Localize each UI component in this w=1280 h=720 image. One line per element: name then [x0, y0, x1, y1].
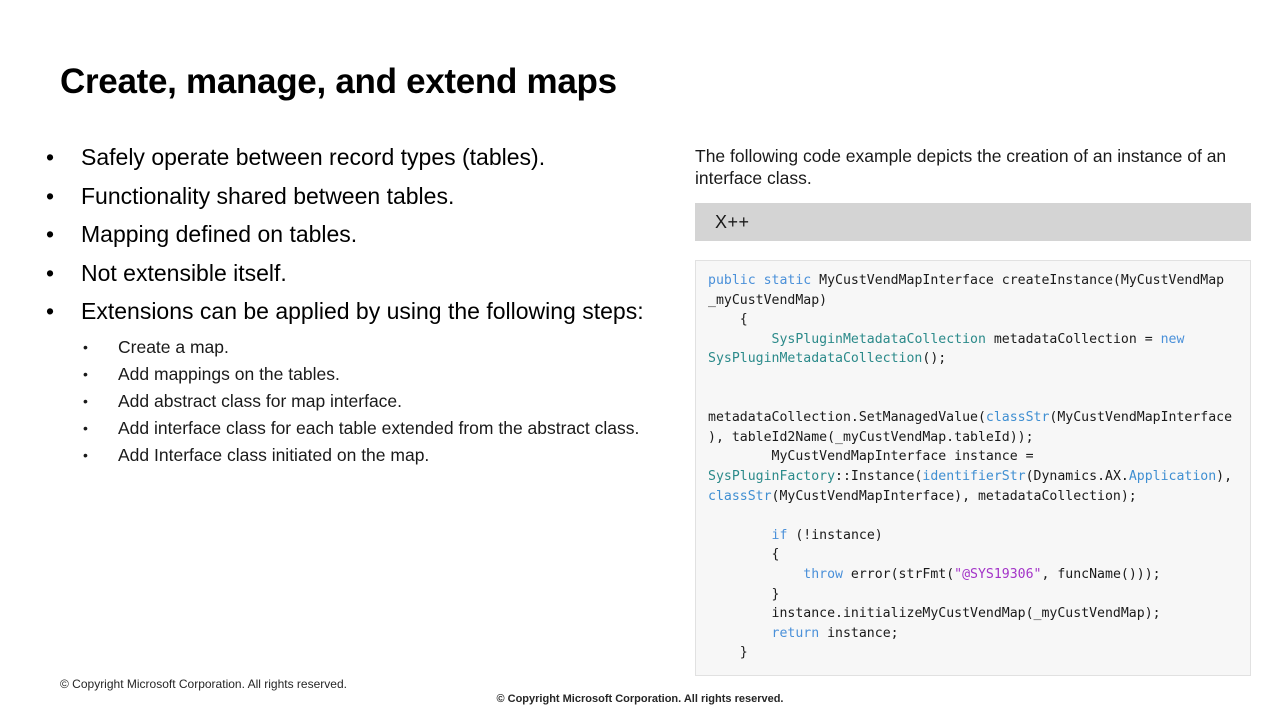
- code-token-type: SysPluginFactory: [708, 469, 835, 484]
- bullet-item: •Safely operate between record types (ta…: [40, 138, 680, 177]
- code-token-plain: {: [708, 312, 748, 327]
- code-token-plain: ::Instance(: [835, 469, 922, 484]
- bullet-dot-icon: •: [46, 177, 54, 216]
- sub-bullet-item: •Add abstract class for map interface.: [40, 388, 680, 415]
- code-token-plain: MyCustVendMapInterface instance =: [708, 449, 1041, 464]
- footer-copyright-center: © Copyright Microsoft Corporation. All r…: [0, 693, 1280, 705]
- code-token-fn: Application: [1129, 469, 1216, 484]
- bullet-dot-icon: •: [83, 415, 88, 442]
- slide: Create, manage, and extend maps •Safely …: [0, 0, 1280, 720]
- bullet-dot-icon: •: [83, 361, 88, 388]
- code-content: public static MyCustVendMapInterface cre…: [708, 271, 1238, 663]
- bullet-label: Mapping defined on tables.: [81, 221, 357, 247]
- code-token-fn: classStr: [708, 489, 772, 504]
- sub-bullet-label: Add mappings on the tables.: [118, 364, 340, 384]
- code-token-plain: error(strFmt(: [843, 567, 954, 582]
- bullet-dot-icon: •: [46, 138, 54, 177]
- page-title: Create, manage, and extend maps: [60, 62, 617, 102]
- code-token-plain: , funcName()));: [1041, 567, 1160, 582]
- code-token-plain: (MyCustVendMapInterface), metadataCollec…: [772, 489, 1137, 504]
- code-token-plain: }: [708, 587, 779, 602]
- code-token-plain: ();: [922, 351, 946, 366]
- bullet-label: Safely operate between record types (tab…: [81, 144, 545, 170]
- code-panel: The following code example depicts the c…: [695, 145, 1251, 676]
- bullet-item: •Extensions can be applied by using the …: [40, 292, 680, 331]
- code-token-plain: [756, 273, 764, 288]
- bullet-label: Not extensible itself.: [81, 260, 287, 286]
- bullet-dot-icon: •: [83, 442, 88, 469]
- code-token-plain: [708, 332, 772, 347]
- code-token-str: "@SYS19306": [954, 567, 1041, 582]
- footer-copyright-left: © Copyright Microsoft Corporation. All r…: [60, 677, 347, 691]
- sub-bullet-label: Add interface class for each table exten…: [118, 418, 639, 438]
- code-token-type: SysPluginMetadataCollection: [772, 332, 986, 347]
- sub-bullet-item: •Create a map.: [40, 334, 680, 361]
- bullet-list-container: •Safely operate between record types (ta…: [40, 138, 680, 469]
- bullet-label: Functionality shared between tables.: [81, 183, 454, 209]
- language-label: X++: [715, 212, 750, 233]
- bullet-item: •Mapping defined on tables.: [40, 215, 680, 254]
- code-token-kw: return: [772, 626, 820, 641]
- bullet-dot-icon: •: [83, 388, 88, 415]
- language-bar: X++: [695, 203, 1251, 241]
- code-token-plain: [1184, 332, 1192, 347]
- code-token-plain: {: [708, 547, 779, 562]
- bullet-item: •Functionality shared between tables.: [40, 177, 680, 216]
- bullet-dot-icon: •: [83, 334, 88, 361]
- code-token-plain: metadataCollection =: [986, 332, 1161, 347]
- code-block[interactable]: public static MyCustVendMapInterface cre…: [695, 260, 1251, 676]
- bullet-item: •Not extensible itself.: [40, 254, 680, 293]
- bullet-list: •Safely operate between record types (ta…: [40, 138, 680, 469]
- sub-bullet-list: •Create a map.•Add mappings on the table…: [40, 334, 680, 469]
- code-token-plain: [708, 567, 803, 582]
- bullet-dot-icon: •: [46, 254, 54, 293]
- code-token-plain: metadataCollection.SetManagedValue(: [708, 391, 986, 426]
- bullet-dot-icon: •: [46, 292, 54, 331]
- sub-bullet-item: •Add Interface class initiated on the ma…: [40, 442, 680, 469]
- code-intro-text: The following code example depicts the c…: [695, 145, 1235, 189]
- code-token-kw: throw: [803, 567, 843, 582]
- code-token-plain: (Dynamics.AX.: [1026, 469, 1129, 484]
- sub-bullet-item: •Add mappings on the tables.: [40, 361, 680, 388]
- sub-bullet-item: •Add interface class for each table exte…: [40, 415, 680, 442]
- code-token-plain: [708, 626, 772, 641]
- code-token-kw: public: [708, 273, 756, 288]
- code-token-type: SysPluginMetadataCollection: [708, 351, 922, 366]
- bullet-label: Extensions can be applied by using the f…: [81, 298, 644, 324]
- sub-bullet-label: Add Interface class initiated on the map…: [118, 445, 429, 465]
- sub-bullet-label: Add abstract class for map interface.: [118, 391, 402, 411]
- code-token-plain: ),: [1216, 469, 1240, 484]
- code-token-plain: instance.initializeMyCustVendMap(_myCust…: [708, 606, 1161, 621]
- code-token-plain: [708, 528, 772, 543]
- code-token-fn: identifierStr: [922, 469, 1025, 484]
- code-token-kw: static: [764, 273, 812, 288]
- code-token-kw: if: [772, 528, 788, 543]
- code-token-plain: }: [708, 645, 748, 660]
- code-token-kw: new: [1161, 332, 1185, 347]
- code-token-plain: instance;: [819, 626, 898, 641]
- bullet-dot-icon: •: [46, 215, 54, 254]
- code-token-fn: classStr: [986, 410, 1050, 425]
- sub-bullet-label: Create a map.: [118, 337, 229, 357]
- code-token-plain: (!instance): [787, 528, 882, 543]
